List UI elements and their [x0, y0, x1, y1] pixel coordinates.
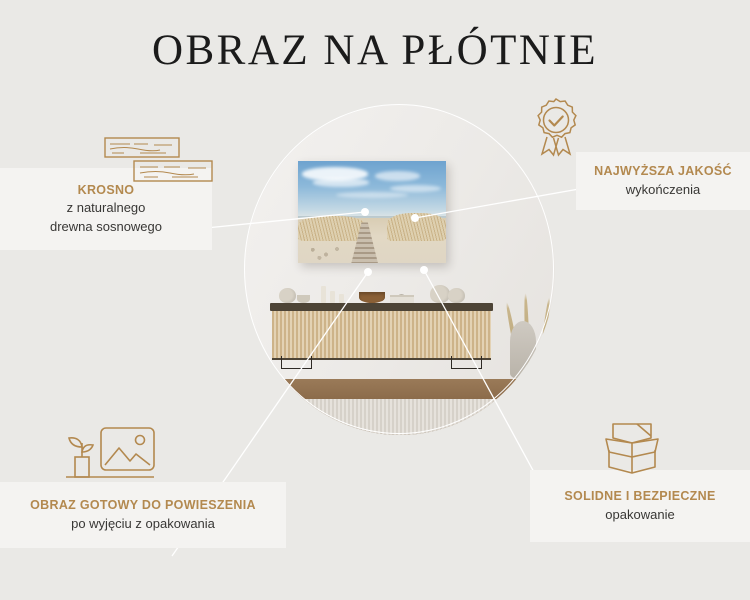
feature-title: SOLIDNE I BEZPIECZNE	[564, 489, 715, 505]
cloud	[313, 178, 370, 186]
feature-subtitle-line1: z naturalnego	[67, 199, 146, 217]
ceramic-vase	[448, 288, 465, 303]
cloud	[336, 192, 407, 198]
dune-grass-right	[387, 213, 447, 241]
rug	[245, 399, 555, 435]
feature-card-quality: NAJWYŻSZA JAKOŚĆ wykończenia	[576, 152, 750, 210]
candle	[321, 286, 326, 303]
wood-planks-icon	[104, 136, 224, 191]
feature-subtitle-line1: wykończenia	[626, 181, 700, 199]
candle	[330, 291, 335, 303]
quality-badge-icon	[528, 96, 584, 169]
stacked-books	[390, 295, 414, 303]
sideboard-slats	[272, 311, 491, 361]
dune-grass-left	[298, 216, 366, 241]
open-box-icon	[600, 418, 664, 483]
feature-title: OBRAZ GOTOWY DO POWIESZENIA	[30, 498, 256, 514]
canvas-artwork	[298, 161, 447, 263]
infographic-root: OBRAZ NA PŁÓTNIE	[0, 0, 750, 600]
ceramic-bowl	[297, 295, 310, 303]
stone-vase	[510, 321, 536, 379]
cloud	[375, 171, 420, 180]
room-scene-image	[245, 105, 555, 435]
sideboard	[270, 303, 493, 369]
cloud	[390, 185, 441, 192]
sideboard-legs	[276, 357, 486, 369]
ceramic-vase	[279, 288, 296, 303]
feature-title: NAJWYŻSZA JAKOŚĆ	[594, 164, 732, 180]
center-photo	[245, 105, 555, 435]
page-title: OBRAZ NA PŁÓTNIE	[0, 26, 750, 75]
feature-subtitle-line1: opakowanie	[605, 506, 674, 524]
candle	[339, 294, 344, 303]
framed-picture-plant-icon	[62, 424, 162, 491]
sideboard-top	[270, 303, 493, 311]
feature-subtitle-line1: po wyjęciu z opakowania	[71, 515, 215, 533]
feature-subtitle-line2: drewna sosnowego	[50, 218, 162, 236]
footprints	[304, 245, 349, 261]
feature-card-ready: OBRAZ GOTOWY DO POWIESZENIA po wyjęciu z…	[0, 482, 286, 548]
wooden-bowl	[359, 292, 385, 303]
